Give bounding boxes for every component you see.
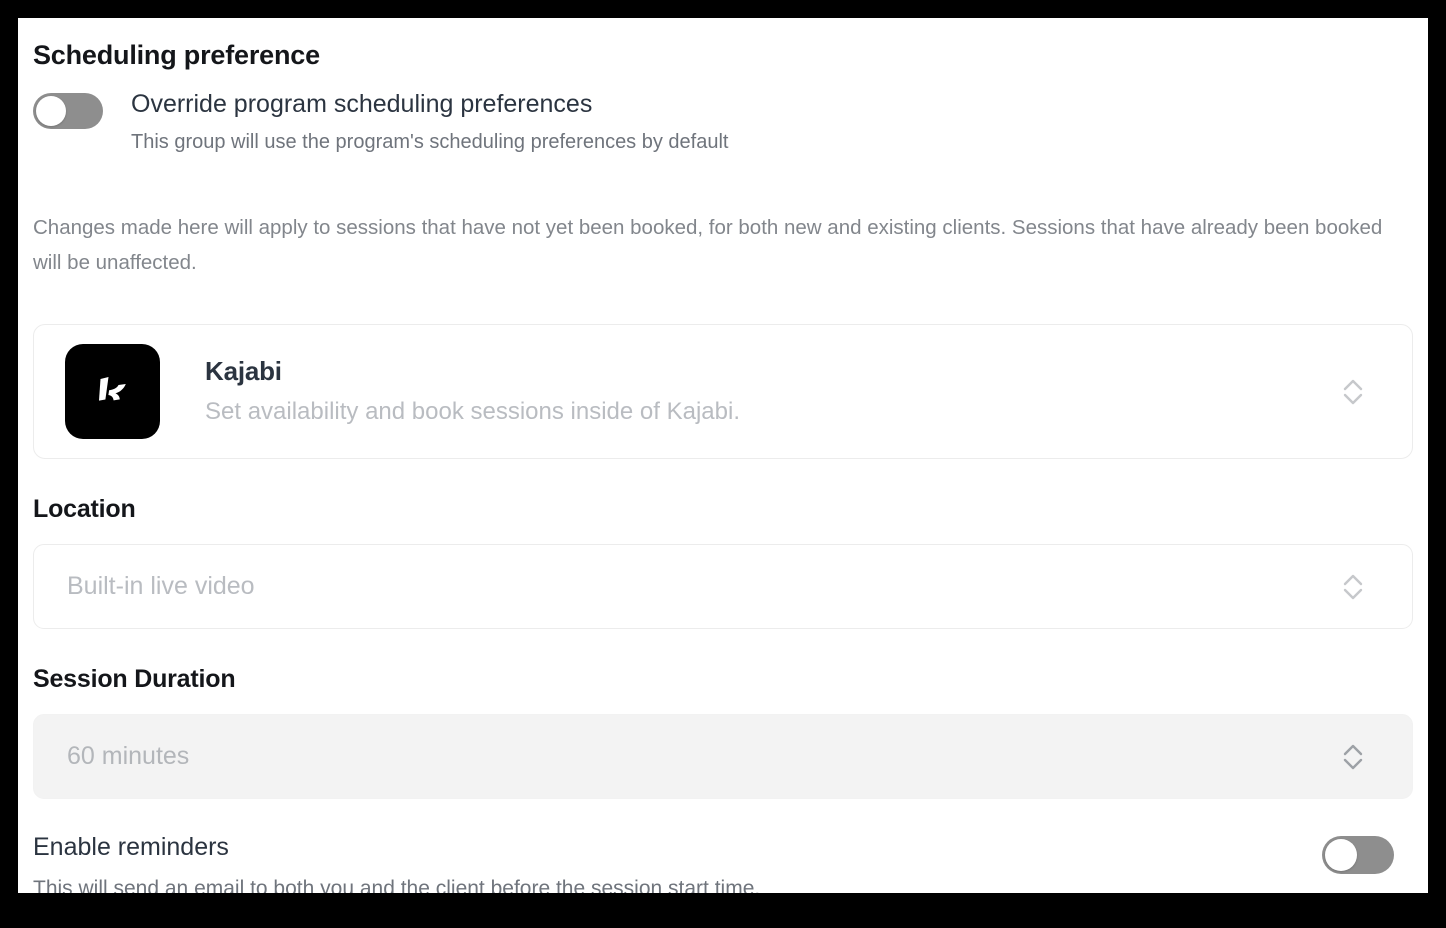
toggle-knob (1325, 839, 1357, 871)
location-label: Location (33, 495, 1413, 524)
settings-content: Scheduling preference Override program s… (18, 18, 1428, 893)
session-duration-group: Session Duration 60 minutes (33, 665, 1413, 799)
location-select[interactable]: Built-in live video (33, 544, 1413, 629)
kajabi-k-logo-icon (65, 344, 160, 439)
session-duration-select[interactable]: 60 minutes (33, 714, 1413, 799)
location-group: Location Built-in live video (33, 495, 1413, 629)
chevron-up-down-icon[interactable] (1340, 567, 1366, 607)
enable-reminders-row: Enable reminders This will send an email… (33, 834, 1413, 893)
enable-reminders-description: This will send an email to both you and … (33, 876, 1322, 894)
override-scheduling-row: Override program scheduling preferences … (33, 91, 1413, 154)
enable-reminders-toggle[interactable] (1322, 836, 1394, 874)
override-scheduling-text: Override program scheduling preferences … (131, 91, 728, 154)
integration-description: Set availability and book sessions insid… (205, 398, 1340, 426)
enable-reminders-title: Enable reminders (33, 834, 1322, 862)
chevron-up-down-icon[interactable] (1340, 372, 1366, 412)
session-duration-value: 60 minutes (67, 742, 1340, 771)
enable-reminders-text: Enable reminders This will send an email… (33, 834, 1322, 893)
settings-panel: Scheduling preference Override program s… (18, 18, 1428, 893)
override-scheduling-description: This group will use the program's schedu… (131, 130, 728, 154)
override-scheduling-toggle[interactable] (33, 93, 103, 129)
page-title: Scheduling preference (33, 40, 1413, 71)
chevron-up-down-icon[interactable] (1340, 737, 1366, 777)
changes-note: Changes made here will apply to sessions… (33, 210, 1413, 281)
scheduling-integration-select[interactable]: Kajabi Set availability and book session… (33, 324, 1413, 459)
integration-name: Kajabi (205, 357, 1340, 386)
override-scheduling-label: Override program scheduling preferences (131, 91, 728, 119)
toggle-knob (36, 96, 66, 126)
session-duration-label: Session Duration (33, 665, 1413, 694)
integration-meta: Kajabi Set availability and book session… (205, 357, 1340, 425)
location-value: Built-in live video (67, 572, 1340, 601)
